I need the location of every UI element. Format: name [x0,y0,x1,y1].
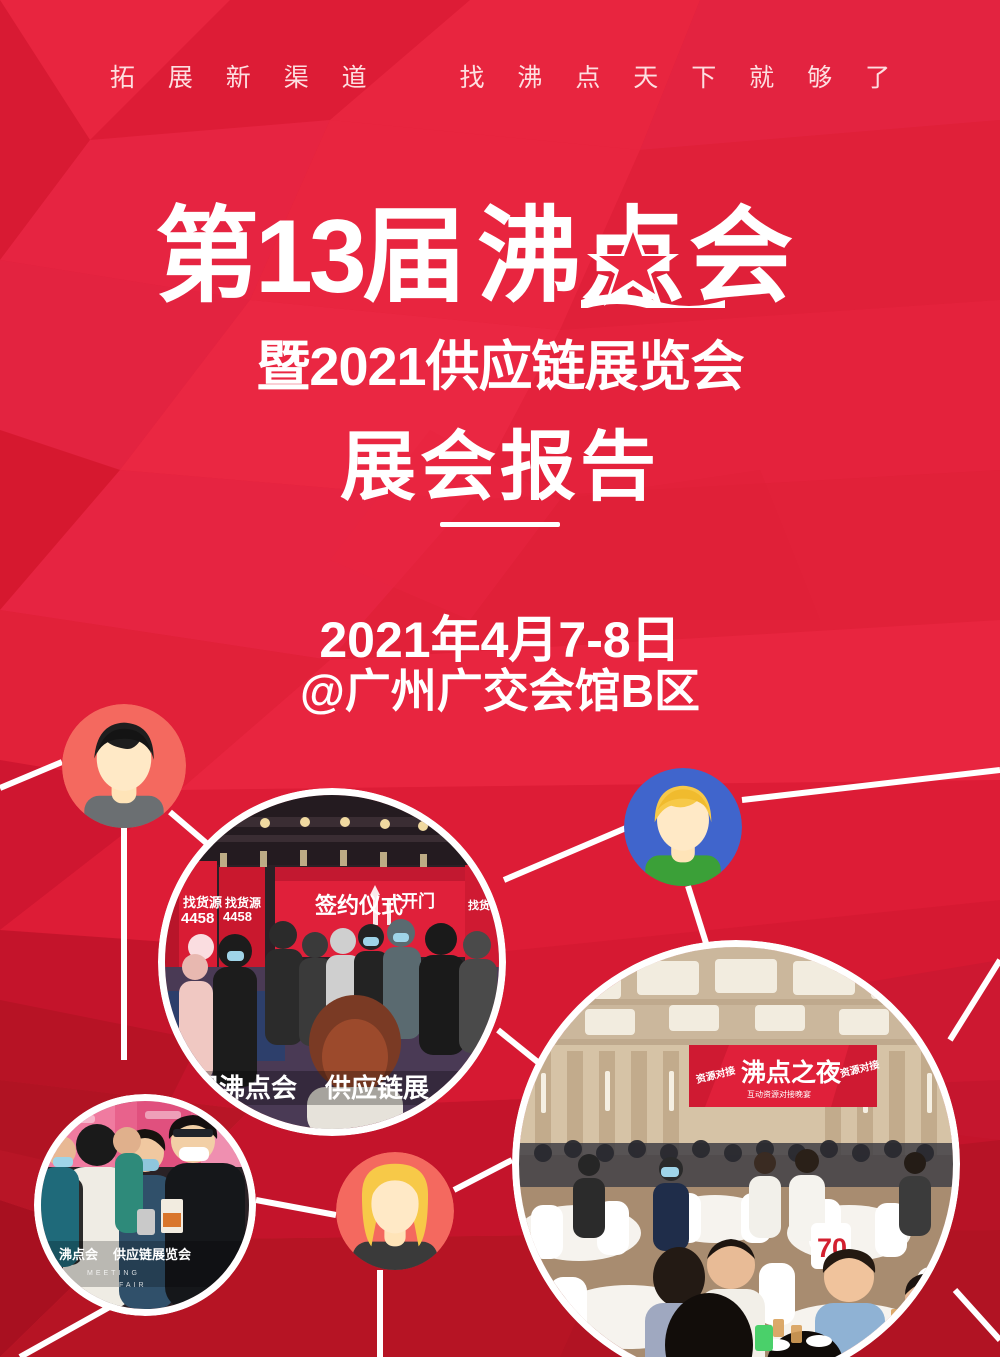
exhibition-hall-photo-image: 签约仪式 开门 找货源 4458 找货源 4458 找货源 [165,795,499,1129]
svg-text:会: 会 [689,199,793,308]
sub-title: 暨2021供应链展览会 [0,322,1000,401]
exhibition-hall-photo: 签约仪式 开门 找货源 4458 找货源 4458 找货源 [158,788,506,1136]
svg-text:沸点会: 沸点会 [59,1247,99,1262]
svg-text:找货源: 找货源 [225,895,261,910]
title-block: 第13届 沸 点 会 [0,196,1000,308]
svg-text:供应链展览会: 供应链展览会 [112,1247,192,1262]
svg-text:FAIR: FAIR [119,1282,147,1289]
attendees-photo: 沸点会 供应链展览会 MEETING FAIR [34,1094,256,1316]
report-title: 展会报告 [0,405,1000,515]
svg-text:开门: 开门 [401,891,435,911]
banquet-night-photo-image: 沸点之夜 互动资源对接晚宴 资源对接 资源对接 [519,947,953,1357]
attendees-photo-image: 沸点会 供应链展览会 MEETING FAIR [41,1101,249,1309]
event-logotype: 第13届 沸 点 会 [155,196,845,308]
svg-text:供应链展: 供应链展 [324,1073,429,1103]
svg-text:4458: 4458 [181,910,214,927]
svg-text:MEETING: MEETING [87,1270,140,1277]
poster-root: 拓 展 新 渠 道 找 沸 点 天 下 就 够 了 第13届 沸 点 会 暨20… [0,0,1000,1357]
svg-text:沸点之夜: 沸点之夜 [741,1058,842,1087]
svg-text:找货源: 找货源 [468,898,499,912]
svg-text:沸: 沸 [477,199,579,308]
avatar-person-dark-hair [62,704,186,828]
avatar-person-blonde-male [624,768,742,886]
avatar-person-blonde-female [336,1152,454,1270]
svg-text:互动资源对接晚宴: 互动资源对接晚宴 [747,1089,811,1099]
svg-text:4458: 4458 [223,909,252,924]
title-divider [440,522,560,527]
svg-text:找货源: 找货源 [183,895,222,910]
svg-text:第13届: 第13届 [155,199,463,308]
poster-tagline: 拓 展 新 渠 道 找 沸 点 天 下 就 够 了 [0,58,1000,94]
